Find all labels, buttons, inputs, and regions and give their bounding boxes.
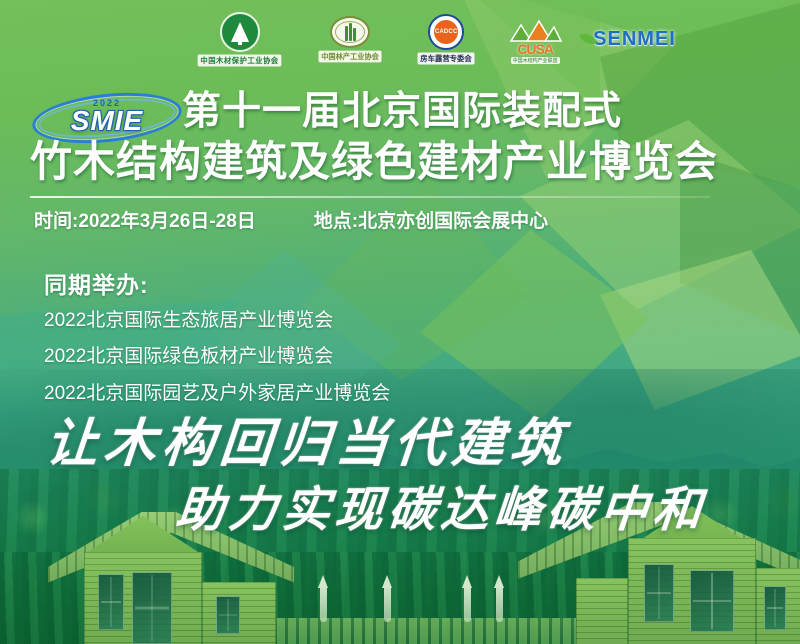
patio-umbrella-icon (318, 575, 328, 622)
event-date: 时间:2022年3月26日-28日 (34, 206, 256, 233)
patio-umbrella-icon (494, 575, 504, 622)
cabin-window (690, 570, 734, 632)
logo-mark-text: SENMEI (593, 28, 676, 51)
pine-tree-icon (220, 12, 260, 52)
cabin-window (644, 564, 674, 622)
logo-china-wood-protection[interactable]: 中国木材保护工业协会 (194, 12, 285, 67)
logo-label: 中国木结构产业联盟 (511, 57, 560, 64)
logo-cadcc[interactable]: CADCC 房车露营专委会 (415, 14, 477, 65)
logo-label: 中国林产工业协会 (319, 50, 382, 62)
slogan-line-1: 让木构回归当代建筑 (44, 418, 571, 470)
logo-mark-text: CADCC (434, 20, 458, 44)
smie-acronym: SMIE (32, 107, 182, 135)
divider (30, 196, 710, 198)
slogan-line-2: 助力实现碳达峰碳中和 (174, 486, 708, 534)
cabin-wall (576, 578, 628, 644)
list-item: 2022北京国际生态旅居产业博览会 (44, 303, 390, 339)
house-roof-icon (507, 15, 563, 49)
logo-cusa[interactable]: CUSA 中国木结构产业联盟 (507, 15, 563, 64)
cabin-window (764, 586, 786, 630)
sponsor-logo-bar: 中国木材保护工业协会 中国林产工业协会 CADCC 房车露营专委会 CUSA (0, 0, 800, 78)
cadcc-badge-icon: CADCC (428, 14, 464, 50)
cabin-door (132, 572, 172, 644)
patio-umbrella-icon (462, 575, 472, 622)
page-title-line1: 第十一届北京国际装配式 (182, 92, 792, 133)
event-meta: 时间:2022年3月26日-28日 地点:北京亦创国际会展中心 (34, 206, 780, 233)
cabin-window (216, 596, 240, 634)
logo-label: 房车露营专委会 (418, 52, 475, 64)
page-title-line2: 竹木结构建筑及绿色建材产业博览会 (30, 140, 792, 184)
event-venue: 地点:北京亦创国际会展中心 (314, 206, 548, 233)
logo-senmei[interactable]: SENMEI (593, 28, 676, 51)
list-item: 2022北京国际绿色板材产业博览会 (44, 339, 390, 375)
logo-label: 中国木材保护工业协会 (198, 54, 282, 66)
smie-logo[interactable]: 2022 SMIE (32, 94, 182, 142)
list-item: 2022北京国际园艺及户外家居产业博览会 (44, 376, 390, 412)
exhibition-poster: 中国木材保护工业协会 中国林产工业协会 CADCC 房车露营专委会 CUSA (0, 0, 800, 644)
bamboo-icon (330, 16, 370, 48)
cabin-window (98, 574, 124, 630)
logo-forest-products[interactable]: 中国林产工业协会 (315, 16, 385, 63)
concurrent-events-heading: 同期举办: (44, 266, 149, 300)
concurrent-events-list: 2022北京国际生态旅居产业博览会 2022北京国际绿色板材产业博览会 2022… (44, 303, 390, 412)
patio-umbrella-icon (382, 575, 392, 622)
